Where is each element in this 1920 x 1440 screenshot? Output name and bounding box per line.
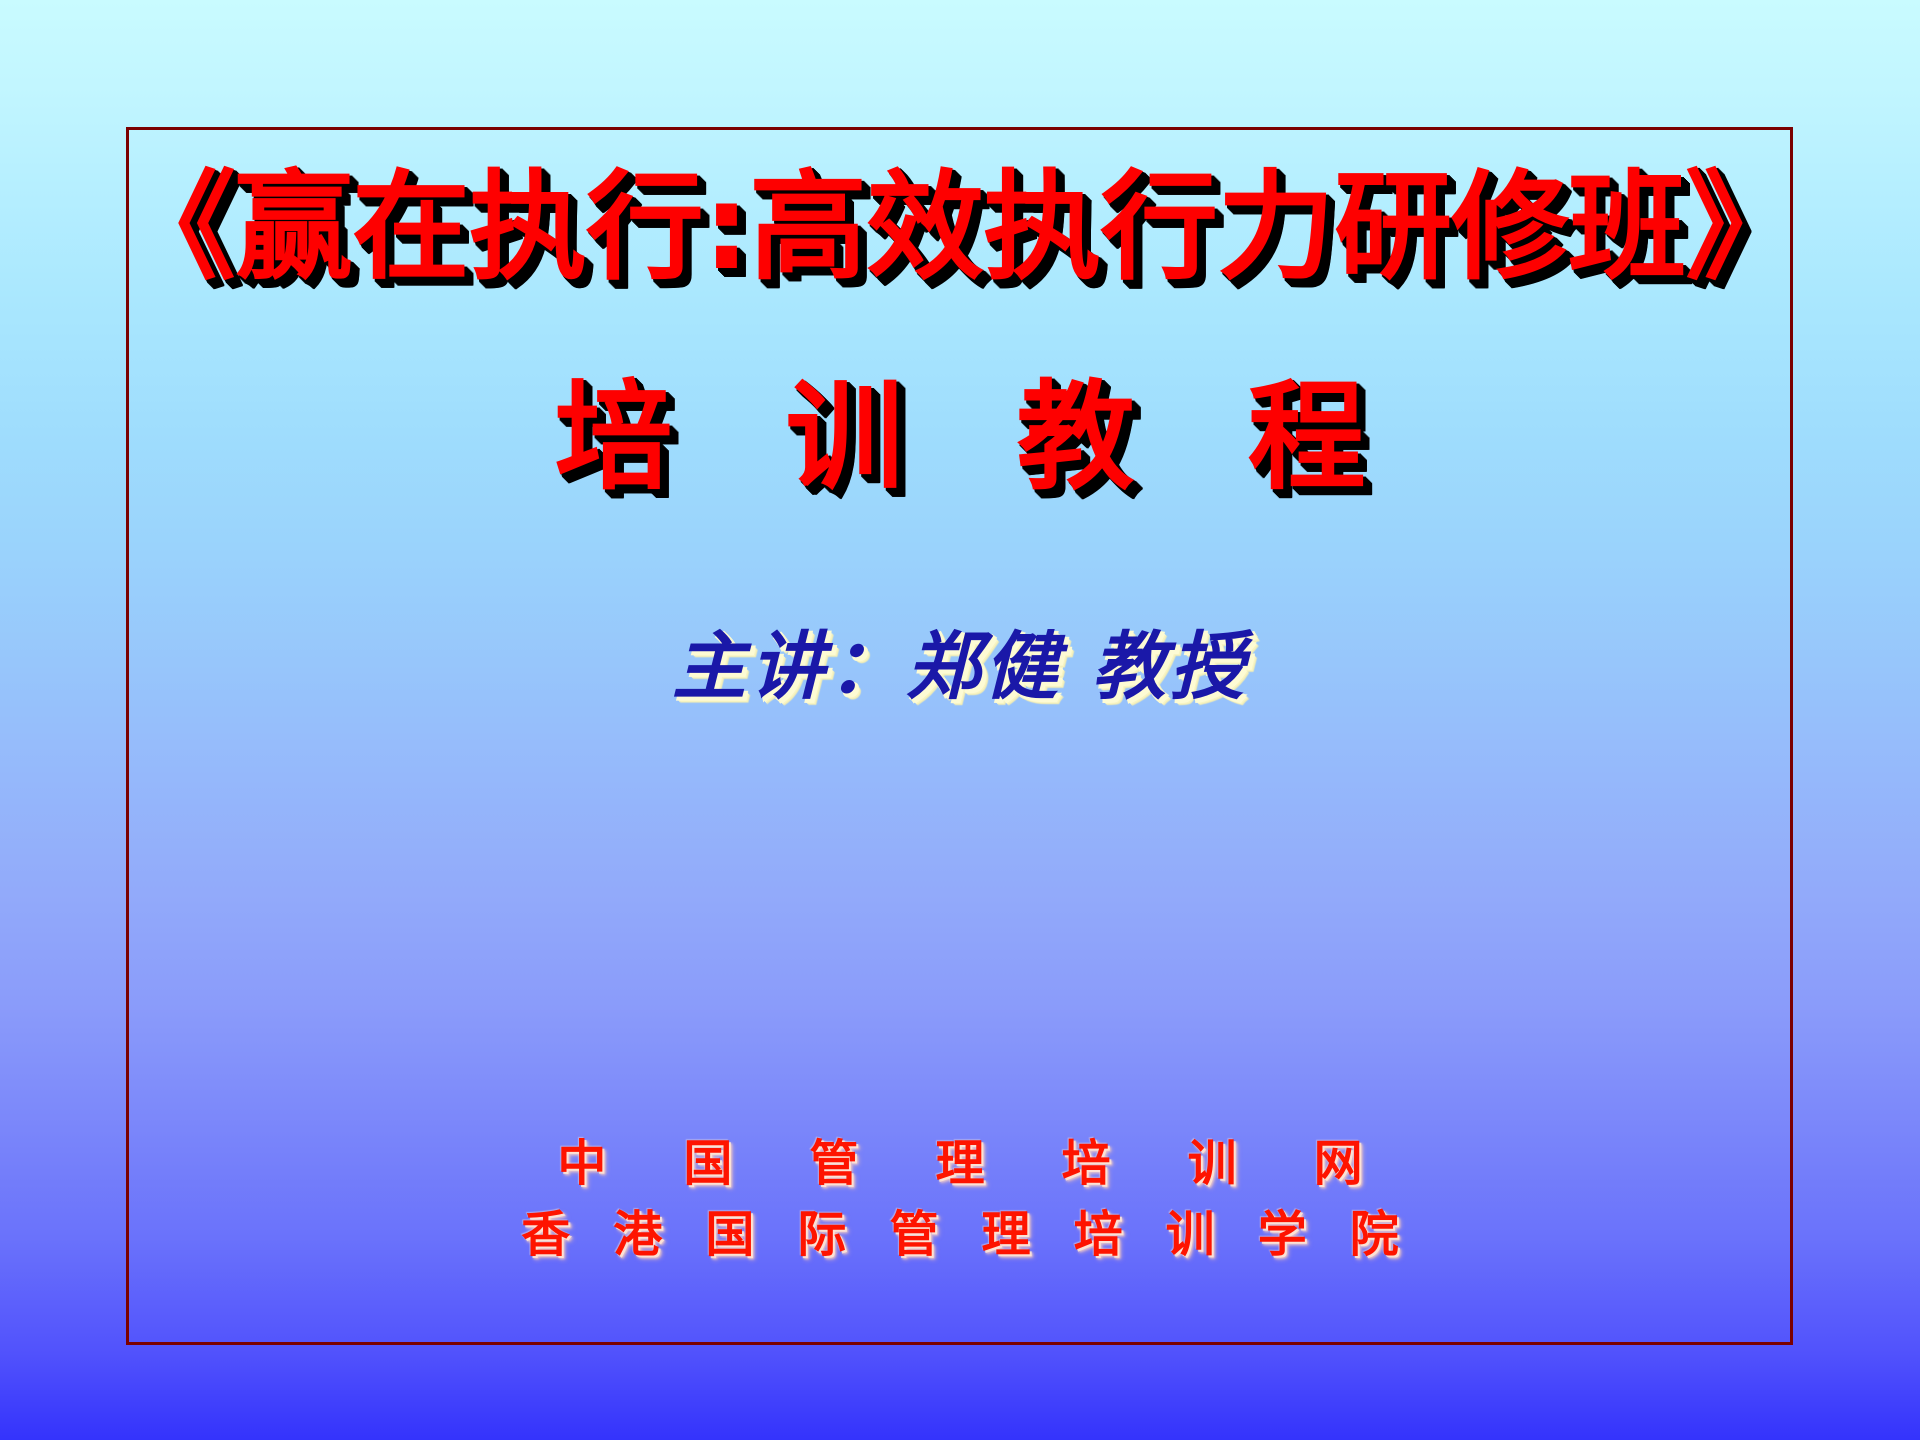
footer-organization-line-1: 中 国 管 理 培 训 网 xyxy=(0,1139,1920,1188)
footer-organization-line-2: 香 港 国 际 管 理 培 训 学 院 xyxy=(0,1210,1920,1259)
presenter-name: 主讲：郑健 教授 xyxy=(0,630,1920,704)
slide-title-line-1: 《赢在执行:高效执行力研修班》 xyxy=(0,168,1920,286)
title-slide: 《赢在执行:高效执行力研修班》 培 训 教 程 主讲：郑健 教授 中 国 管 理… xyxy=(0,0,1920,1440)
slide-title-line-2: 培 训 教 程 xyxy=(0,378,1920,496)
